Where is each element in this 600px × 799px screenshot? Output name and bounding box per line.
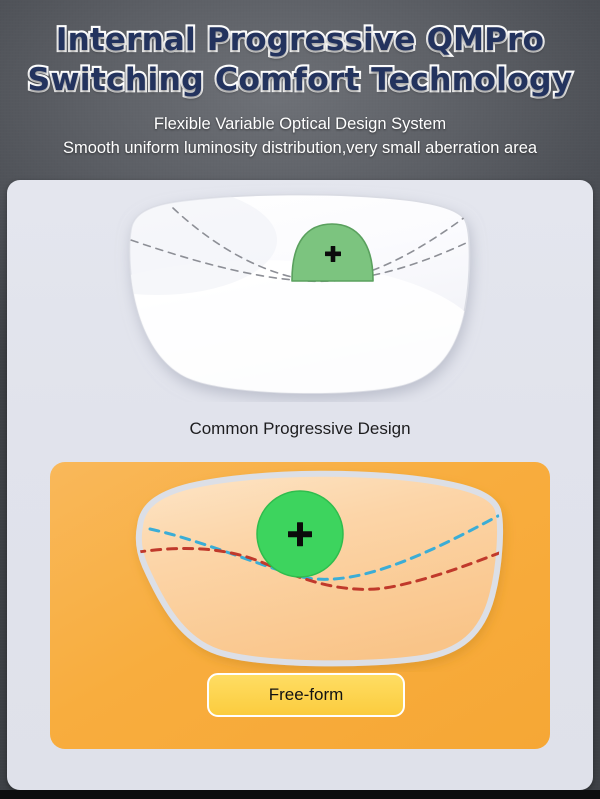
free-form-button[interactable]: Free-form xyxy=(207,673,405,717)
free-form-lens-svg xyxy=(50,462,550,672)
header-banner: Internal Progressive QMPro Switching Com… xyxy=(0,0,600,159)
common-progressive-caption: Common Progressive Design xyxy=(7,419,593,439)
common-progressive-lens-figure xyxy=(7,180,593,402)
bottom-edge-strip xyxy=(0,790,600,799)
free-form-panel: Free-form xyxy=(50,462,550,749)
page-title-line-1: Internal Progressive QMPro xyxy=(0,20,600,60)
subtitle-line-1: Flexible Variable Optical Design System xyxy=(0,113,600,135)
subtitle-line-2: Smooth uniform luminosity distribution,v… xyxy=(0,137,600,159)
free-form-button-label: Free-form xyxy=(269,685,344,705)
page-title-line-2: Switching Comfort Technology xyxy=(0,60,600,100)
content-card: Common Progressive Design xyxy=(7,180,593,790)
common-progressive-lens-svg xyxy=(7,180,593,402)
